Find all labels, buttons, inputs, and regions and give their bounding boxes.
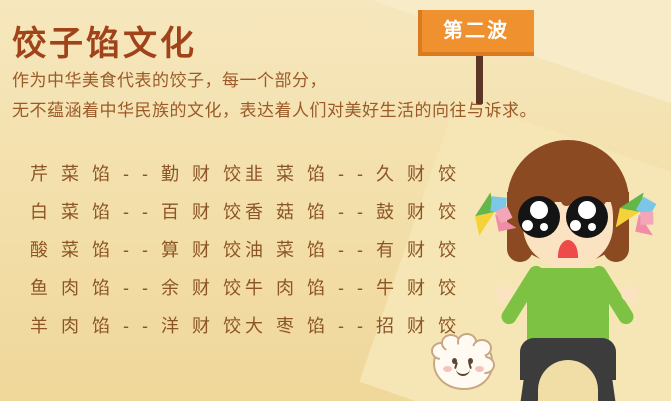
shirt	[527, 268, 609, 348]
eye-right	[566, 196, 608, 238]
list-item: 酸 菜 馅 - - 算 财 饺 油 菜 馅 - - 有 财 饺	[30, 230, 460, 268]
sign-board: 第二波	[418, 10, 534, 52]
subtitle-line-1: 作为中华美食代表的饺子，每一个部分，	[12, 66, 327, 91]
dumpling-face-area	[439, 344, 487, 384]
eye-highlight	[540, 223, 548, 231]
list-item: 白 菜 馅 - - 百 财 饺 香 菇 馅 - - 鼓 财 饺	[30, 192, 460, 230]
eye-highlight	[530, 201, 548, 219]
dumpling-name-left: 鱼 肉 馅 - - 余 财 饺	[30, 274, 245, 300]
eye-highlight	[588, 223, 596, 231]
list-item: 羊 肉 馅 - - 洋 财 饺 大 枣 馅 - - 招 财 饺	[30, 306, 460, 344]
hand-left	[496, 285, 513, 302]
wave-sign: 第二波	[418, 4, 538, 104]
pinwheel-icon	[613, 188, 665, 240]
eye-highlight	[570, 220, 581, 231]
page-title: 饺子馅文化	[12, 16, 197, 65]
dumpling-name-left: 酸 菜 馅 - - 算 财 饺	[30, 236, 245, 262]
pinwheel-blade	[640, 211, 653, 224]
dumpling-mascot-icon	[431, 334, 497, 394]
dumpling-name-list: 芹 菜 馅 - - 勤 财 饺 韭 菜 馅 - - 久 财 饺 白 菜 馅 - …	[30, 154, 460, 344]
dumpling-name-left: 羊 肉 馅 - - 洋 财 饺	[30, 312, 245, 338]
dumpling-name-right: 油 菜 馅 - - 有 财 饺	[245, 236, 460, 262]
dumpling-name-right: 大 枣 馅 - - 招 财 饺	[245, 312, 460, 338]
eye-left	[518, 196, 560, 238]
list-item: 鱼 肉 馅 - - 余 财 饺 牛 肉 馅 - - 牛 财 饺	[30, 268, 460, 306]
list-item: 芹 菜 馅 - - 勤 财 饺 韭 菜 馅 - - 久 财 饺	[30, 154, 460, 192]
dumpling-cheek-left	[443, 366, 452, 372]
dumpling-name-right: 韭 菜 馅 - - 久 财 饺	[245, 160, 460, 186]
eye-highlight	[578, 201, 596, 219]
pinwheel-icon	[469, 188, 521, 240]
sign-label: 第二波	[418, 10, 534, 52]
hand-right	[621, 285, 638, 302]
dumpling-cheek-right	[475, 366, 484, 372]
dumpling-name-left: 白 菜 馅 - - 百 财 饺	[30, 198, 245, 224]
dumpling-name-right: 香 菇 馅 - - 鼓 财 饺	[245, 198, 460, 224]
eye-highlight	[522, 220, 533, 231]
dumpling-name-right: 牛 肉 馅 - - 牛 财 饺	[245, 274, 460, 300]
poster-canvas: 饺子馅文化 作为中华美食代表的饺子，每一个部分， 无不蕴涵着中华民族的文化，表达…	[0, 0, 671, 401]
dumpling-name-left: 芹 菜 馅 - - 勤 财 饺	[30, 160, 245, 186]
